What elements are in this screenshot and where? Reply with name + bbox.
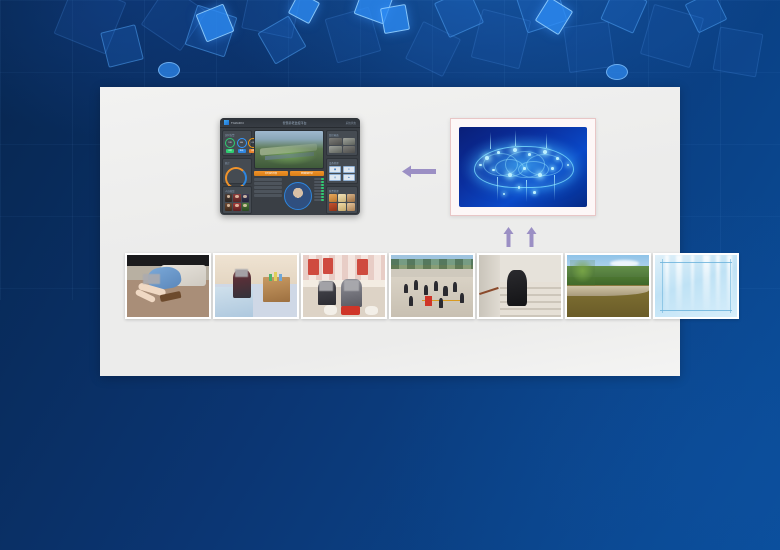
willow-tree-shape <box>570 260 595 287</box>
device-icon-grid: ▣ ☉ ◎ ▲ <box>329 166 355 181</box>
dashboard-logo-icon <box>224 120 229 125</box>
streak-shape <box>703 255 710 317</box>
walking-person-shape <box>507 270 527 306</box>
meal-thumbnail[interactable] <box>329 194 337 202</box>
meal-management-panel[interactable]: 膳食管理 <box>326 186 358 214</box>
smart-care-dashboard[interactable]: TIANJIN 智慧养老监控平台 系统状态 实时告警 128 正常 <box>220 118 360 215</box>
arrow-up-group <box>503 227 537 247</box>
gauge-item[interactable]: 064 在线 <box>237 138 247 153</box>
resident-avatar[interactable] <box>284 182 312 210</box>
neural-node <box>533 191 536 194</box>
campus-map-view[interactable] <box>254 130 324 169</box>
statistics-ring-panel[interactable]: 统计 <box>222 158 252 184</box>
dashboard-header: TIANJIN 智慧养老监控平台 系统状态 <box>220 118 360 128</box>
bar-row <box>314 184 324 186</box>
privacy-blur <box>319 281 332 291</box>
streak-shape <box>691 255 694 317</box>
meal-thumbnail[interactable] <box>329 203 337 211</box>
gauge-list: 128 正常 064 在线 012 预警 <box>225 138 249 153</box>
neural-node <box>492 169 495 172</box>
left-stat-list <box>254 178 282 215</box>
neural-node <box>497 151 500 154</box>
health-analysis-button[interactable]: 健康数据分析 <box>290 171 324 176</box>
camera-feed-label: 监控画面 <box>329 133 355 137</box>
red-sign-shape <box>323 258 334 274</box>
dashboard-logo-label: TIANJIN <box>231 121 244 125</box>
dashboard-status-label: 系统状态 <box>346 121 356 125</box>
arrow-left-to-dashboard <box>402 165 436 178</box>
meal-thumbnail[interactable] <box>338 194 346 202</box>
device-icon[interactable]: ☉ <box>343 166 355 173</box>
decor-square <box>380 4 410 34</box>
decor-square <box>563 21 615 73</box>
bar-row <box>314 181 324 183</box>
pedestrian-shape <box>439 298 443 308</box>
tray-shape <box>341 306 361 315</box>
dashboard-body: 实时告警 128 正常 064 在线 012 <box>220 128 360 215</box>
stat-row <box>254 178 282 181</box>
pedestrian-shape <box>453 282 457 292</box>
dresser-shape <box>263 277 291 302</box>
ai-brain-frame <box>450 118 596 216</box>
scenario-photo-strip <box>125 253 739 319</box>
guide-line <box>662 259 663 314</box>
neural-node <box>551 167 554 170</box>
red-sign-shape <box>357 259 368 275</box>
barrier-post-shape <box>425 296 432 306</box>
meal-thumbnail[interactable] <box>347 203 355 211</box>
streak-shape <box>716 255 720 317</box>
pedestrian-shape <box>434 281 438 291</box>
resident-thumbnail[interactable] <box>242 194 249 202</box>
bar-row <box>314 196 324 198</box>
photo-blue-pattern[interactable] <box>653 253 739 319</box>
guide-line <box>660 310 732 311</box>
gauge-chip: 在线 <box>238 149 246 153</box>
bottle-shape <box>269 274 272 281</box>
bottle-shape <box>274 272 277 281</box>
pedestrian-shape <box>443 286 447 296</box>
light-beam <box>490 132 491 150</box>
streak-shape <box>676 255 682 317</box>
resident-thumbnail[interactable] <box>225 194 232 202</box>
neural-node <box>556 157 559 160</box>
bowl-shape <box>365 306 378 315</box>
resident-thumbnail[interactable] <box>225 203 232 211</box>
dashboard-middle-column: 实时事件告警 健康数据分析 <box>254 130 324 214</box>
neural-node <box>485 156 489 160</box>
action-button-row: 实时事件告警 健康数据分析 <box>254 171 324 176</box>
photo-bedroom-care[interactable] <box>213 253 299 319</box>
event-alert-button[interactable]: 实时事件告警 <box>254 171 288 176</box>
neural-node <box>513 148 517 152</box>
gauge-item[interactable]: 128 正常 <box>225 138 235 153</box>
camera-grid <box>329 138 355 153</box>
photo-lakeside[interactable] <box>565 253 651 319</box>
light-beam <box>515 130 516 146</box>
gauge-ring: 128 <box>225 138 235 148</box>
bar-row <box>314 199 324 201</box>
stat-row <box>254 182 282 185</box>
decor-disc <box>606 64 628 80</box>
guide-line <box>660 262 732 263</box>
ai-brain-graphic[interactable] <box>459 127 587 207</box>
resident-thumbnail-grid <box>225 194 249 211</box>
resident-thumbnail[interactable] <box>233 203 240 211</box>
pedestrian-shape <box>424 285 428 295</box>
dashboard-left-column: 实时告警 128 正常 064 在线 012 <box>222 130 252 214</box>
light-beam <box>554 175 555 201</box>
right-bar-list <box>314 178 324 215</box>
neural-node <box>503 193 506 196</box>
camera-tile[interactable] <box>329 138 342 145</box>
alert-gauges-label: 实时告警 <box>225 133 249 137</box>
content-card: TIANJIN 智慧养老监控平台 系统状态 实时告警 128 正常 <box>100 87 680 376</box>
dashboard-lower-middle <box>254 178 324 215</box>
camera-tile[interactable] <box>343 146 356 153</box>
resident-profiles-label: 人员档案 <box>225 189 249 193</box>
stat-row <box>254 190 282 193</box>
statistics-label: 统计 <box>225 161 249 165</box>
photo-stairs[interactable] <box>477 253 563 319</box>
light-beam <box>497 177 498 201</box>
bowl-shape <box>324 305 337 315</box>
neural-node <box>528 153 531 156</box>
device-icon[interactable]: ▲ <box>343 174 355 181</box>
gauge-chip: 正常 <box>226 149 234 153</box>
gauge-ring: 064 <box>237 138 247 148</box>
privacy-blur <box>235 269 248 278</box>
arrow-up-left <box>503 227 514 247</box>
meal-management-label: 膳食管理 <box>329 189 355 193</box>
device-management-panel[interactable]: 设备管理 ▣ ☉ ◎ ▲ <box>326 158 358 184</box>
camera-tile[interactable] <box>343 138 356 145</box>
dashboard-title: 智慧养老监控平台 <box>283 121 307 125</box>
bar-row <box>314 193 324 195</box>
stat-row <box>254 186 282 189</box>
slide-canvas: TIANJIN 智慧养老监控平台 系统状态 实时告警 128 正常 <box>0 0 780 550</box>
alert-gauges-panel[interactable]: 实时告警 128 正常 064 在线 012 <box>222 130 252 156</box>
tree-row-shape <box>391 259 473 269</box>
device-icon[interactable]: ◎ <box>329 174 341 181</box>
resident-thumbnail[interactable] <box>233 194 240 202</box>
pedestrian-shape <box>414 280 418 290</box>
camera-tile[interactable] <box>329 146 342 153</box>
light-beam <box>526 180 527 202</box>
light-beam <box>546 133 547 147</box>
neural-node <box>523 167 526 170</box>
dashboard-right-column: 监控画面 设备管理 ▣ ☉ ◎ <box>326 130 358 214</box>
stat-row <box>254 194 282 197</box>
photo-courtyard[interactable] <box>389 253 475 319</box>
device-management-label: 设备管理 <box>329 161 355 165</box>
pedestrian-shape <box>404 284 408 294</box>
pedestrian-shape <box>409 296 413 306</box>
meal-thumbnail-grid <box>329 194 355 211</box>
bar-row <box>314 190 324 192</box>
neural-node <box>518 186 521 189</box>
streak-shape <box>665 255 669 317</box>
meal-thumbnail[interactable] <box>338 203 346 211</box>
resident-thumbnail[interactable] <box>242 203 249 211</box>
bar-row <box>314 178 324 180</box>
arrow-left-icon <box>402 165 436 178</box>
decor-disc <box>158 62 180 78</box>
privacy-blur <box>143 274 159 284</box>
photo-fall-detection[interactable] <box>125 253 211 319</box>
arrow-up-right <box>526 227 537 247</box>
photo-activity-room[interactable] <box>301 253 387 319</box>
resident-profiles-panel[interactable]: 人员档案 <box>222 186 252 214</box>
meal-thumbnail[interactable] <box>347 194 355 202</box>
decor-square <box>713 27 764 78</box>
red-sign-shape <box>308 259 319 275</box>
pedestrian-shape <box>460 293 464 303</box>
bottle-shape <box>279 274 282 281</box>
guide-line <box>730 259 731 314</box>
camera-feed-panel[interactable]: 监控画面 <box>326 130 358 156</box>
privacy-blur <box>344 280 359 291</box>
device-icon[interactable]: ▣ <box>329 166 341 173</box>
bar-row <box>314 187 324 189</box>
